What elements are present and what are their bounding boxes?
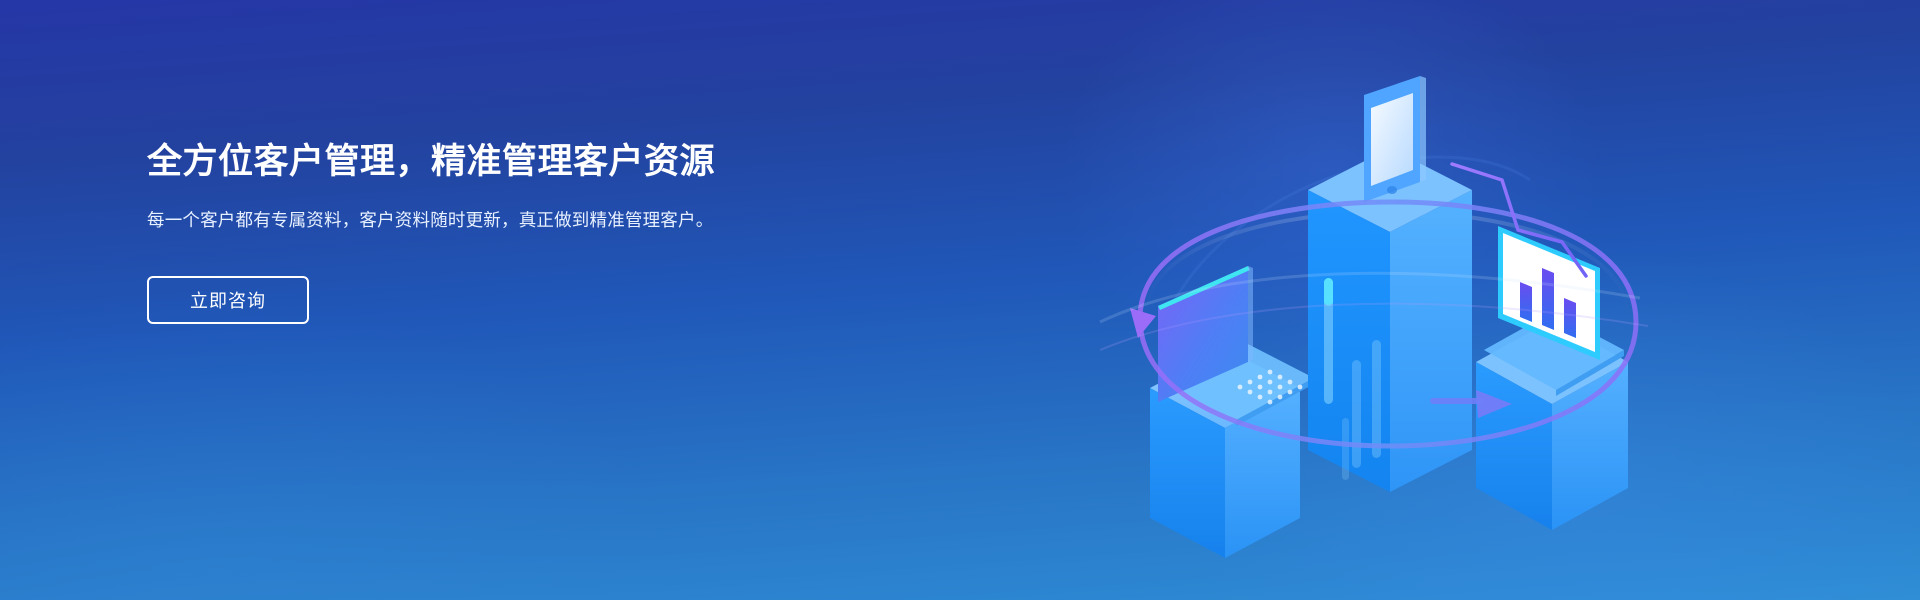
hero-copy: 全方位客户管理，精准管理客户资源 每一个客户都有专属资料，客户资料随时更新，真正… <box>147 140 787 324</box>
background-glow-left <box>0 300 660 600</box>
hero-banner: 全方位客户管理，精准管理客户资源 每一个客户都有专属资料，客户资料随时更新，真正… <box>0 0 1920 600</box>
hero-headline: 全方位客户管理，精准管理客户资源 <box>147 140 787 184</box>
consult-now-button[interactable]: 立即咨询 <box>147 276 309 324</box>
tablet-icon <box>1364 76 1426 202</box>
hero-illustration <box>1100 30 1660 570</box>
hero-subtitle: 每一个客户都有专属资料，客户资料随时更新，真正做到精准管理客户。 <box>147 206 737 234</box>
